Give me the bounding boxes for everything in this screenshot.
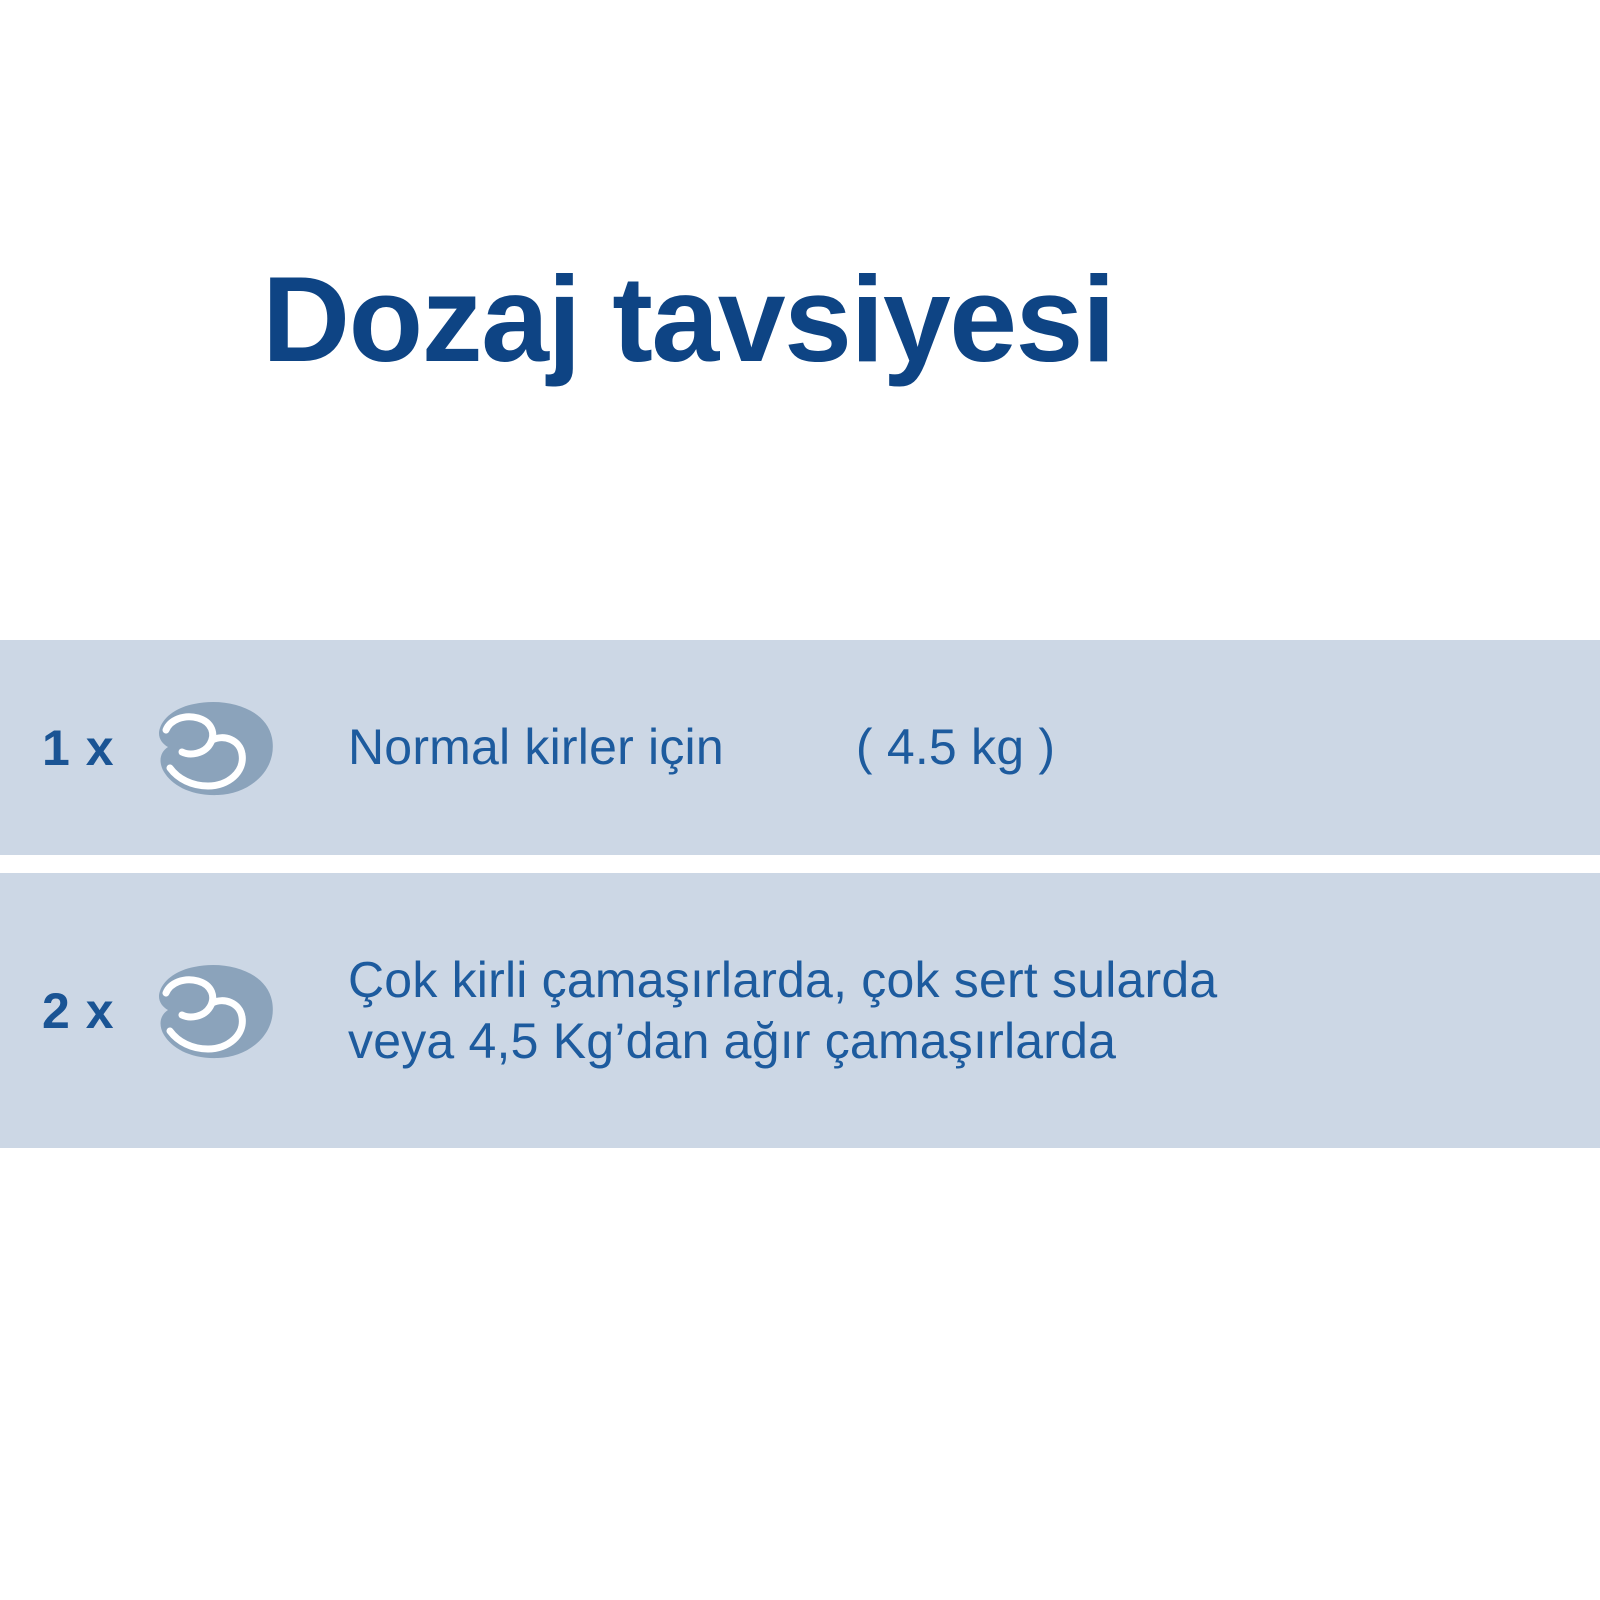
dosage-text-2: Çok kirli çamaşırlarda, çok sert sularda… (348, 950, 1600, 1072)
dosage-row-2: 2 x Çok kirli çamaşırlarda, çok sert sul… (0, 873, 1600, 1148)
dosage-weight-1: ( 4.5 kg ) (856, 717, 1055, 778)
dosage-recommendation-panel: Dozaj tavsiyesi 1 x Normal kirler için (… (0, 0, 1600, 1600)
dosage-description-1: Normal kirler için (348, 717, 724, 778)
band-divider (0, 855, 1600, 873)
page-title: Dozaj tavsiyesi (262, 258, 1114, 380)
dosage-count-1: 1 x (42, 719, 154, 777)
detergent-pod-icon (154, 963, 276, 1059)
dosage-count-2: 2 x (42, 982, 154, 1040)
dosage-band-list: 1 x Normal kirler için ( 4.5 kg ) 2 x (0, 640, 1600, 1148)
dosage-description-2-line1: Çok kirli çamaşırlarda, çok sert sularda (348, 950, 1600, 1011)
dosage-row-1: 1 x Normal kirler için ( 4.5 kg ) (0, 640, 1600, 855)
dosage-description-2-line2: veya 4,5 Kg’dan ağır çamaşırlarda (348, 1011, 1600, 1072)
detergent-pod-icon (154, 700, 276, 796)
dosage-text-1: Normal kirler için ( 4.5 kg ) (348, 717, 1600, 778)
